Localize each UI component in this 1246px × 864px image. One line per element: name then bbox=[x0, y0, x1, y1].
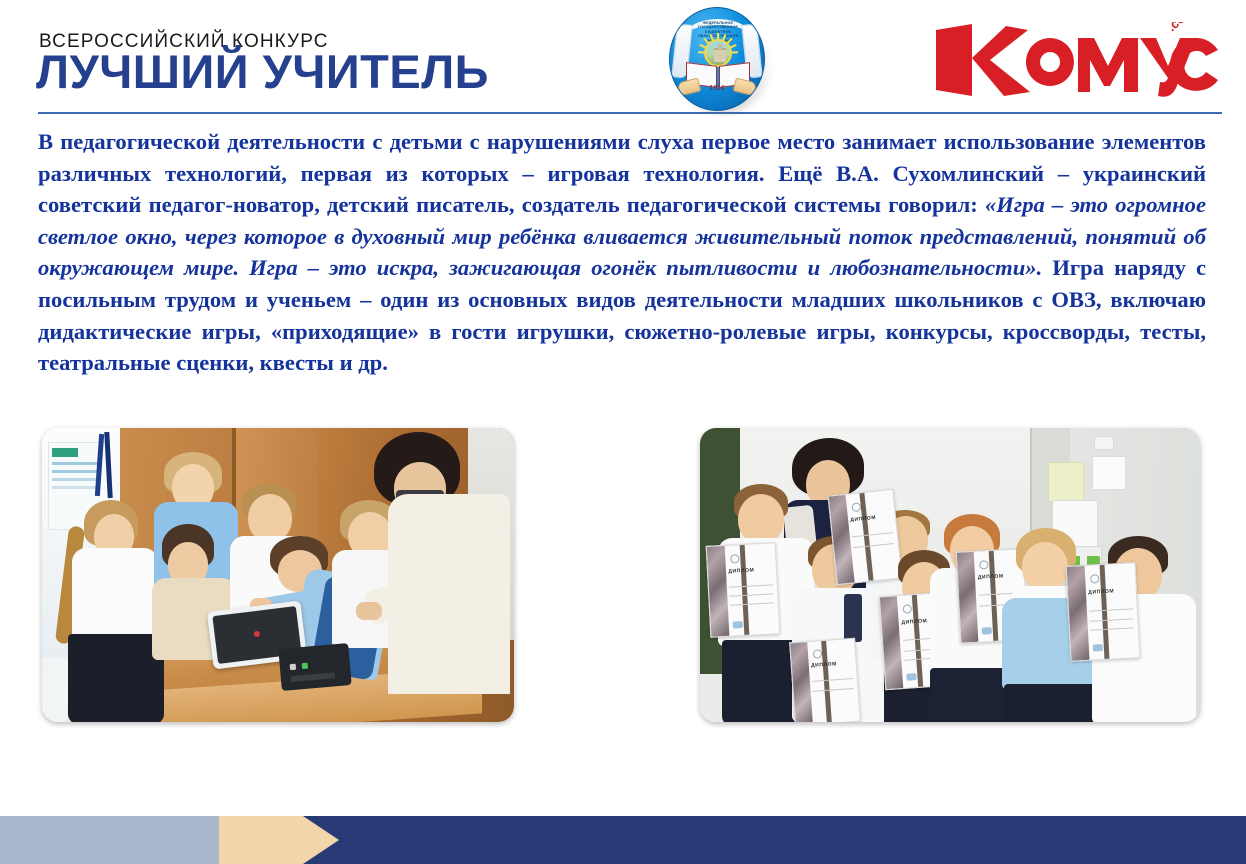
komus-logo: .com bbox=[932, 22, 1222, 98]
slide-header: ВСЕРОССИЙСКИЙ КОНКУРС ЛУЧШИЙ УЧИТЕЛЬ ФЕД… bbox=[0, 0, 1246, 118]
photo-classroom-tablet-reflection bbox=[42, 722, 514, 804]
university-emblem: ФЕДЕРАЛЬНОЕ ГОСУДАРСТВЕННОЕ БЮДЖЕТНОЕ ОБ… bbox=[666, 6, 776, 114]
photo-award-diplomas: ДИПЛОМ ДИПЛОМ bbox=[700, 428, 1200, 722]
emblem-oval: ФЕДЕРАЛЬНОЕ ГОСУДАРСТВЕННОЕ БЮДЖЕТНОЕ ОБ… bbox=[669, 7, 765, 111]
photo-classroom-tablet bbox=[42, 428, 514, 722]
header-divider bbox=[38, 112, 1222, 114]
decorative-chevron-bar bbox=[0, 816, 1246, 864]
photo-classroom-tablet-frame bbox=[42, 428, 514, 722]
diploma-card: ДИПЛОМ bbox=[1066, 562, 1141, 662]
emblem-building-icon bbox=[704, 39, 732, 67]
photo-award-diplomas-frame: ДИПЛОМ ДИПЛОМ bbox=[700, 428, 1200, 722]
emblem-year: 1916 bbox=[670, 84, 764, 92]
photo-award-diplomas-scene: ДИПЛОМ ДИПЛОМ bbox=[700, 428, 1200, 722]
diploma-label: ДИПЛОМ bbox=[728, 568, 754, 575]
komus-domain-text: .com bbox=[1164, 22, 1197, 34]
photo-award-diplomas-reflection bbox=[700, 722, 1200, 804]
body-paragraph: В педагогической деятельности с детьми с… bbox=[38, 126, 1206, 379]
diploma-card: ДИПЛОМ bbox=[706, 542, 781, 638]
photo-classroom-tablet-scene bbox=[42, 428, 514, 722]
diploma-card: ДИПЛОМ bbox=[789, 638, 861, 722]
page-title: ЛУЧШИЙ УЧИТЕЛЬ bbox=[36, 47, 489, 96]
